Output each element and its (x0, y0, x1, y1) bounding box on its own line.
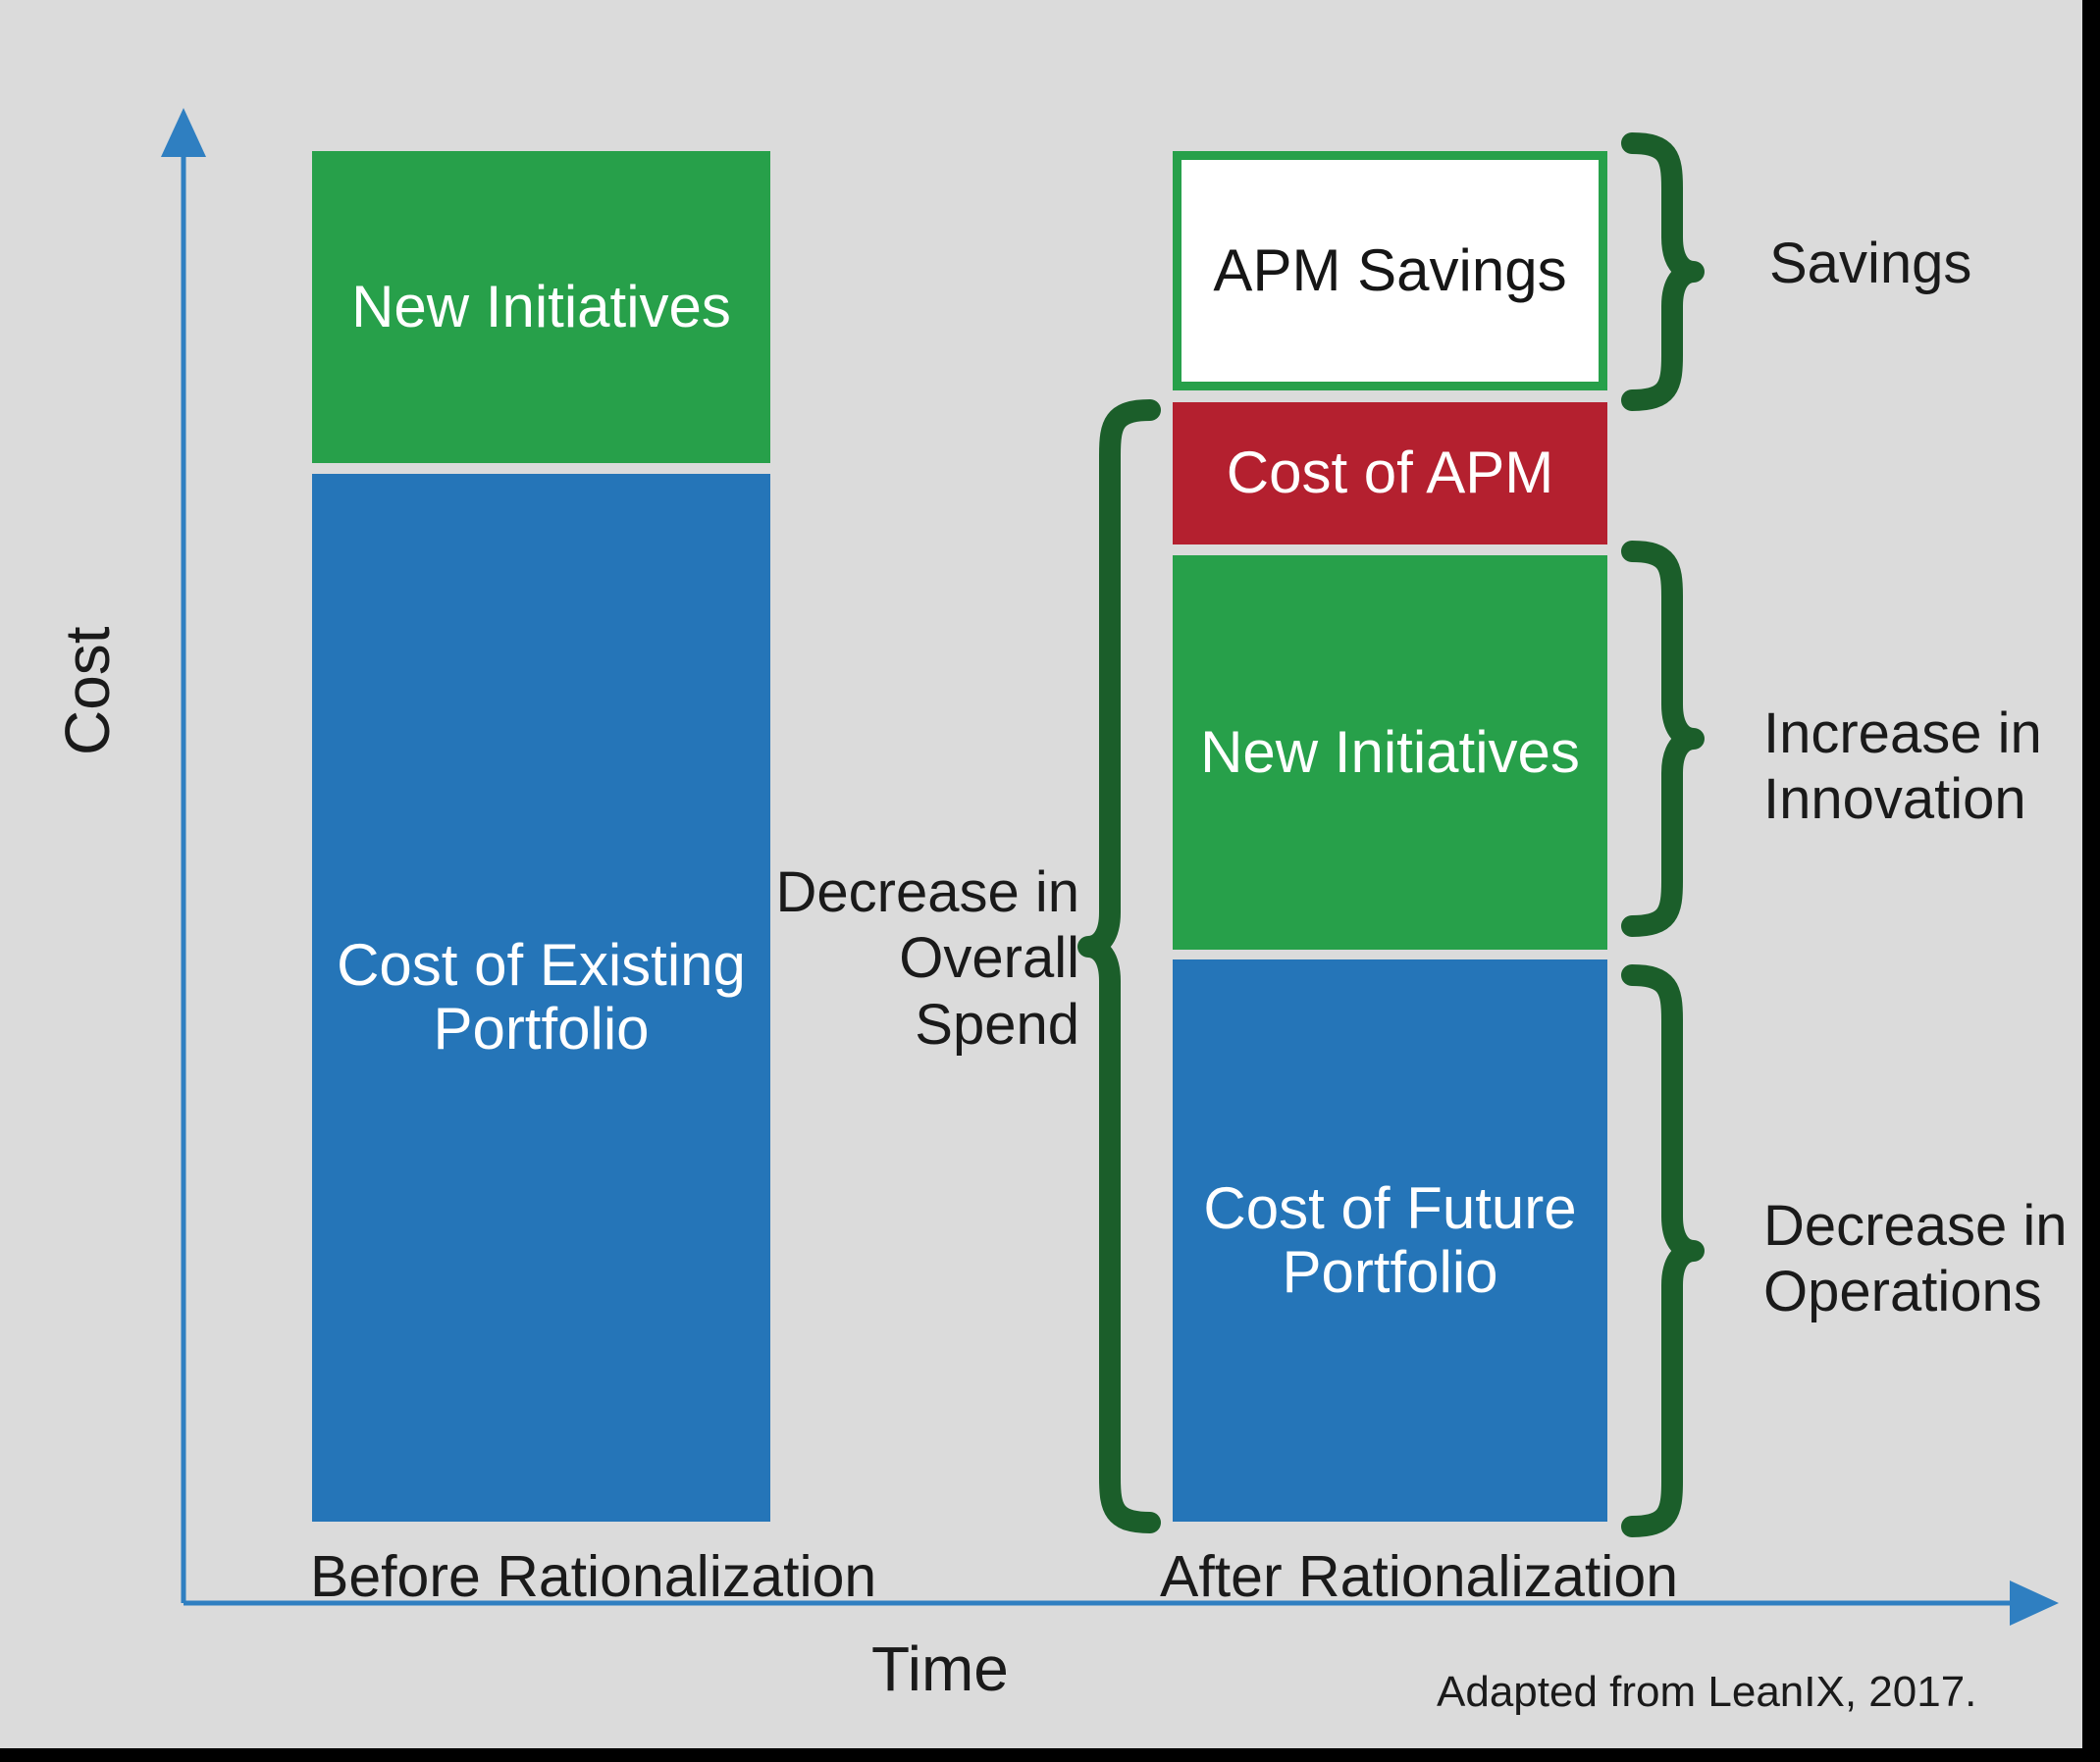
brace-decrease-operations (1632, 975, 1694, 1527)
bar-after-new-initiatives[interactable]: New Initiatives (1173, 555, 1607, 950)
x-axis-title: Time (871, 1632, 1009, 1705)
bar-before-cost-existing-portfolio[interactable]: Cost of Existing Portfolio (312, 474, 770, 1522)
bar-after-cost-of-apm[interactable]: Cost of APM (1173, 402, 1607, 544)
bar-label: Cost of APM (1227, 441, 1553, 505)
brace-increase-innovation (1632, 551, 1694, 926)
annotation-decrease-overall-spend: Decrease in Overall Spend (775, 859, 1079, 1058)
bar-label: New Initiatives (351, 276, 731, 339)
annotation-increase-innovation: Increase in Innovation (1763, 700, 2058, 833)
annotation-savings: Savings (1769, 231, 1971, 296)
brace-decrease-overall-spend (1088, 410, 1150, 1523)
bar-label: Cost of Future Portfolio (1182, 1177, 1598, 1305)
category-label-after: After Rationalization (1160, 1543, 1678, 1610)
bar-label: Cost of Existing Portfolio (322, 934, 761, 1062)
y-axis-title: Cost (51, 626, 124, 755)
bar-before-new-initiatives[interactable]: New Initiatives (312, 151, 770, 463)
bar-after-cost-future-portfolio[interactable]: Cost of Future Portfolio (1173, 959, 1607, 1522)
bar-label: APM Savings (1213, 239, 1566, 303)
plot-area: Cost Time New Initiatives Cost of Existi… (0, 0, 2082, 1748)
bar-label: New Initiatives (1200, 721, 1580, 785)
category-label-before: Before Rationalization (310, 1543, 876, 1610)
x-axis-arrow (2010, 1581, 2059, 1626)
chart-canvas: Cost Time New Initiatives Cost of Existi… (0, 0, 2100, 1762)
y-axis-arrow (161, 108, 206, 157)
bar-after-apm-savings[interactable]: APM Savings (1173, 151, 1607, 390)
source-attribution: Adapted from LeanIX, 2017. (1437, 1668, 1976, 1717)
brace-savings (1632, 143, 1694, 400)
annotation-decrease-operations: Decrease in Operations (1763, 1193, 2068, 1325)
